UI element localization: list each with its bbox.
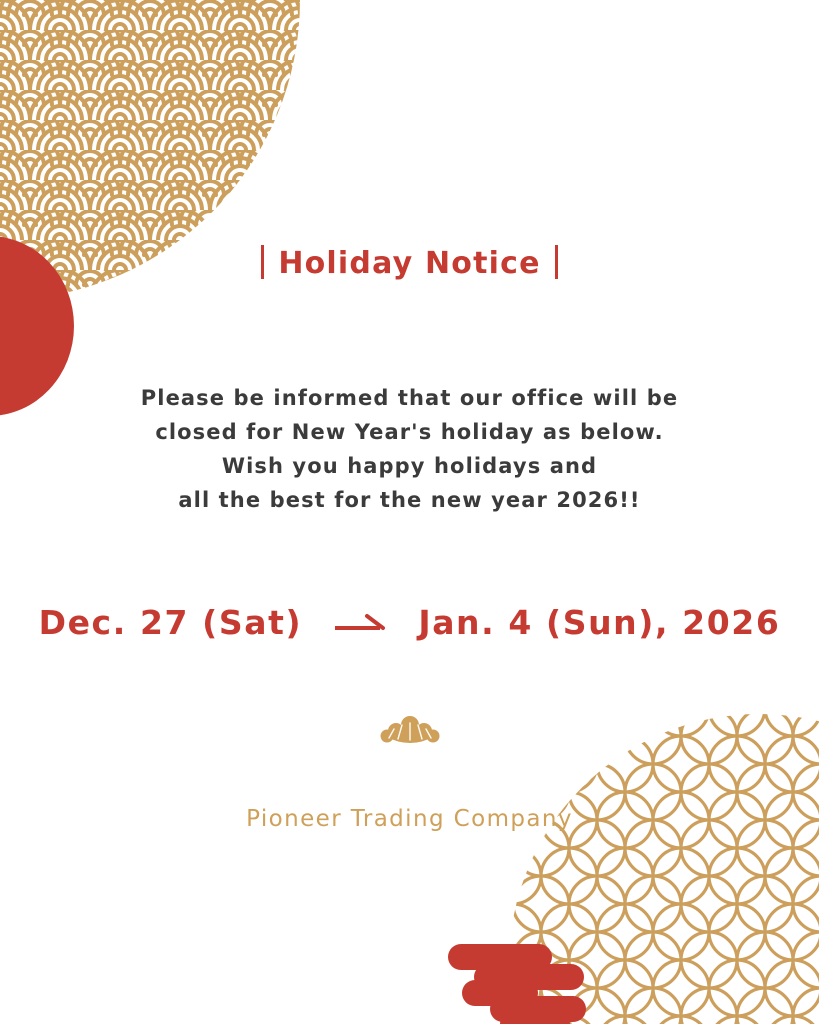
title-left-bar-icon: [261, 245, 264, 279]
company-name: Pioneer Trading Company: [0, 806, 819, 832]
body-line-1: Please be informed that our office will …: [0, 381, 819, 415]
body-line-2: closed for New Year's holiday as below.: [0, 415, 819, 449]
date-end: Jan. 4 (Sun), 2026: [418, 603, 780, 642]
notice-body: Please be informed that our office will …: [0, 381, 819, 517]
body-line-4: all the best for the new year 2026!!: [0, 483, 819, 517]
body-line-3: Wish you happy holidays and: [0, 449, 819, 483]
date-start: Dec. 27 (Sat): [39, 603, 303, 642]
title-right-bar-icon: [555, 245, 558, 279]
gold-fan-ornament-icon: [380, 712, 440, 752]
page-title: Holiday Notice: [278, 246, 540, 281]
holiday-notice-poster: Holiday Notice Please be informed that o…: [0, 0, 819, 1024]
notice-header: Holiday Notice: [0, 246, 819, 281]
arrow-right-icon: [333, 604, 387, 643]
holiday-date-range: Dec. 27 (Sat) Jan. 4 (Sun), 2026: [0, 601, 819, 642]
